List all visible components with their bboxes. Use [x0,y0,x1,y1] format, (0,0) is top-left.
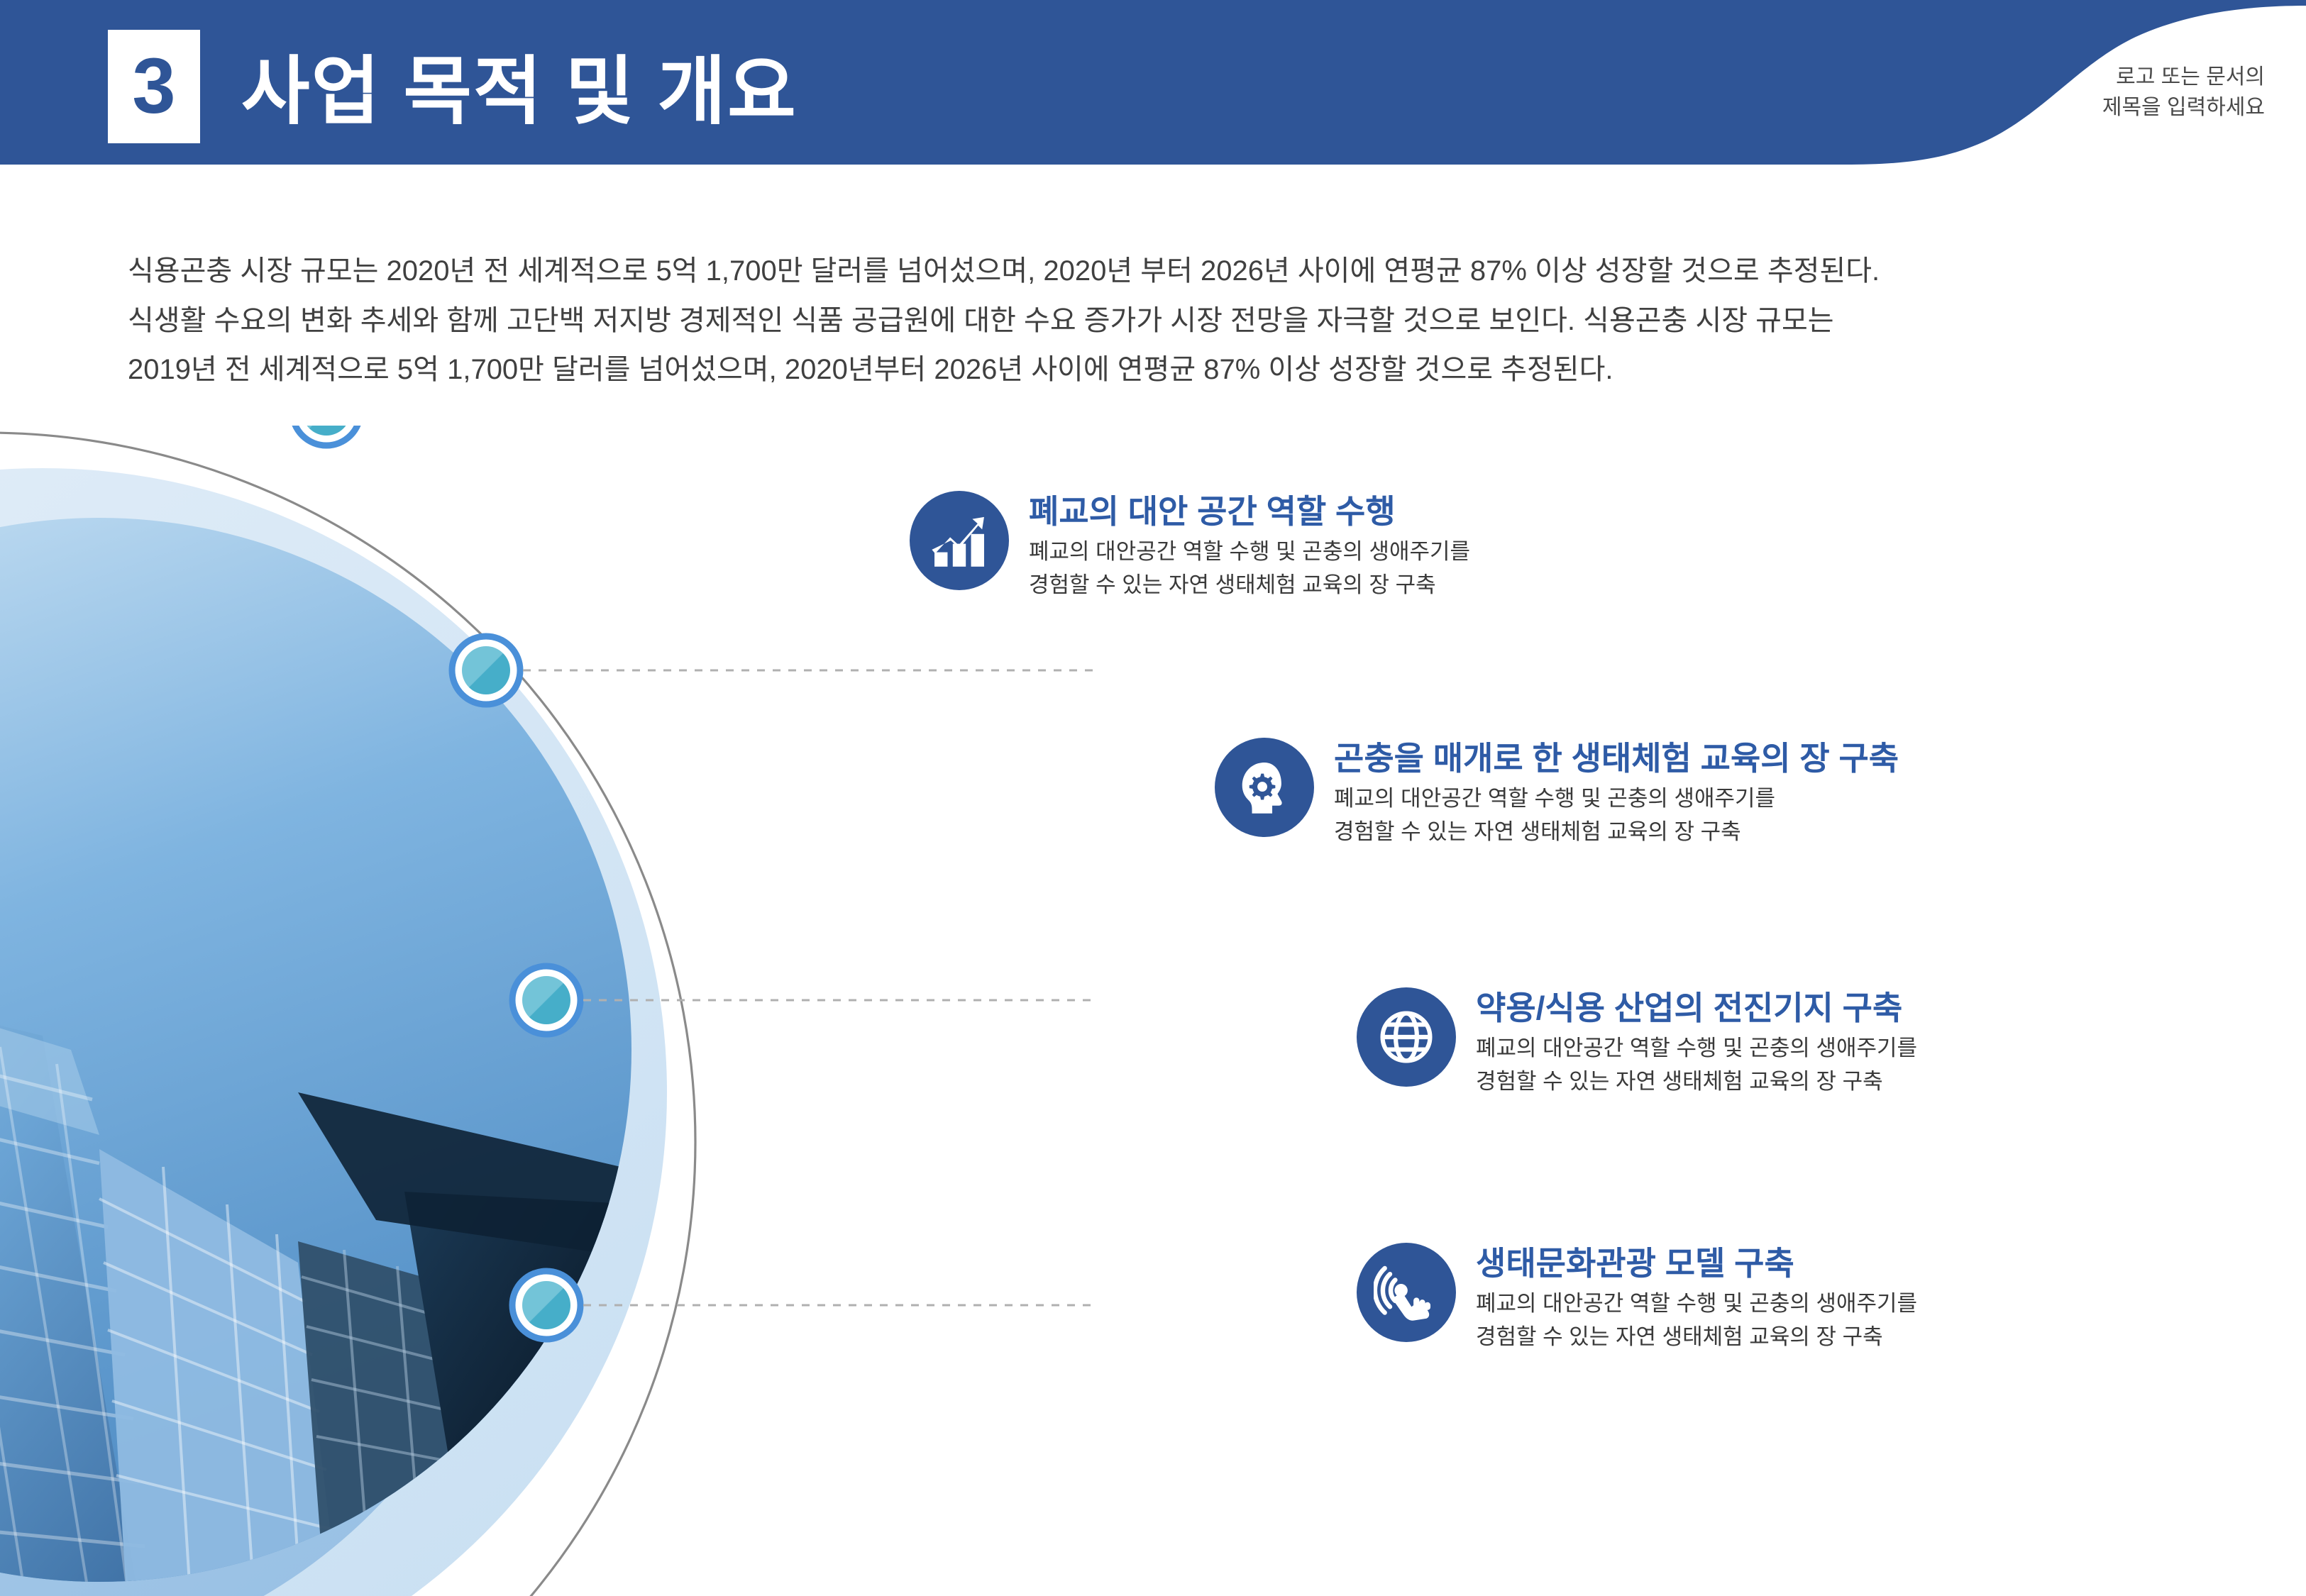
page-title: 사업 목적 및 개요 [241,28,798,142]
feature-text: 약용/식용 산업의 전진기지 구축 폐교의 대안공간 역할 수행 및 곤충의 생… [1476,987,1917,1098]
logo-placeholder-line2: 제목을 입력하세요 [1967,93,2265,123]
arc-node-1[interactable] [452,636,520,704]
feature-description: 폐교의 대안공간 역할 수행 및 곤충의 생애주기를 경험할 수 있는 자연 생… [1334,782,1899,848]
arc-node-3[interactable] [512,1271,580,1339]
globe-icon [1357,987,1456,1087]
head-gear-icon [1215,738,1314,837]
lead-paragraph: 식용곤충 시장 규모는 2020년 전 세계적으로 5억 1,700만 달러를 … [128,247,2185,395]
feature-description: 폐교의 대안공간 역할 수행 및 곤충의 생애주기를 경험할 수 있는 자연 생… [1476,1287,1917,1353]
feature-description: 폐교의 대안공간 역할 수행 및 곤충의 생애주기를 경험할 수 있는 자연 생… [1476,1031,1917,1098]
logo-placeholder-line1: 로고 또는 문서의 [1967,62,2265,93]
feature-title: 곤충을 매개로 한 생태체험 교육의 장 구축 [1334,739,1899,777]
feature-item[interactable]: 곤충을 매개로 한 생태체험 교육의 장 구축 폐교의 대안공간 역할 수행 및… [1215,738,1899,848]
feature-item[interactable]: 폐교의 대안 공간 역할 수행 폐교의 대안공간 역할 수행 및 곤충의 생애주… [910,491,1470,602]
touch-tap-icon [1357,1243,1456,1342]
feature-text: 생태문화관광 모델 구축 폐교의 대안공간 역할 수행 및 곤충의 생애주기를 … [1476,1243,1917,1353]
feature-desc-line2: 경험할 수 있는 자연 생태체험 교육의 장 구축 [1476,1065,1917,1098]
lead-line-2: 식생활 수요의 변화 추세와 함께 고단백 저지방 경제적인 식품 공급원에 대… [128,297,2185,346]
feature-text: 곤충을 매개로 한 생태체험 교육의 장 구축 폐교의 대안공간 역할 수행 및… [1334,738,1899,848]
feature-desc-line1: 폐교의 대안공간 역할 수행 및 곤충의 생애주기를 [1476,1287,1917,1320]
feature-description: 폐교의 대안공간 역할 수행 및 곤충의 생애주기를 경험할 수 있는 자연 생… [1029,535,1470,602]
feature-desc-line1: 폐교의 대안공간 역할 수행 및 곤충의 생애주기를 [1334,782,1899,815]
feature-title: 생태문화관광 모델 구축 [1476,1244,1917,1282]
arc-node-2[interactable] [512,966,580,1034]
slide-header: 3 사업 목적 및 개요 로고 또는 문서의 제목을 입력하세요 [0,0,2306,181]
feature-title: 약용/식용 산업의 전진기지 구축 [1476,989,1917,1027]
lead-line-3: 2019년 전 세계적으로 5억 1,700만 달러를 넘어섰으며, 2020년… [128,345,2185,395]
slide-number-box: 3 [108,30,200,143]
feature-desc-line2: 경험할 수 있는 자연 생태체험 교육의 장 구축 [1476,1320,1917,1353]
growth-chart-icon [910,491,1009,590]
lead-line-1: 식용곤충 시장 규모는 2020년 전 세계적으로 5억 1,700만 달러를 … [128,247,2185,297]
feature-desc-line1: 폐교의 대안공간 역할 수행 및 곤충의 생애주기를 [1029,535,1470,568]
feature-desc-line2: 경험할 수 있는 자연 생태체험 교육의 장 구축 [1334,815,1899,848]
slide-root: 3 사업 목적 및 개요 로고 또는 문서의 제목을 입력하세요 식용곤충 시장… [0,0,2306,1596]
feature-item[interactable]: 생태문화관광 모델 구축 폐교의 대안공간 역할 수행 및 곤충의 생애주기를 … [1357,1243,1917,1353]
arc-node-0[interactable] [292,426,360,445]
feature-desc-line1: 폐교의 대안공간 역할 수행 및 곤충의 생애주기를 [1476,1031,1917,1065]
building-photo [0,511,667,1596]
slide-number: 3 [132,48,175,126]
feature-item[interactable]: 약용/식용 산업의 전진기지 구축 폐교의 대안공간 역할 수행 및 곤충의 생… [1357,987,1917,1098]
feature-text: 폐교의 대안 공간 역할 수행 폐교의 대안공간 역할 수행 및 곤충의 생애주… [1029,491,1470,602]
feature-desc-line2: 경험할 수 있는 자연 생태체험 교육의 장 구축 [1029,568,1470,602]
feature-title: 폐교의 대안 공간 역할 수행 [1029,492,1470,531]
logo-placeholder: 로고 또는 문서의 제목을 입력하세요 [1967,62,2265,123]
